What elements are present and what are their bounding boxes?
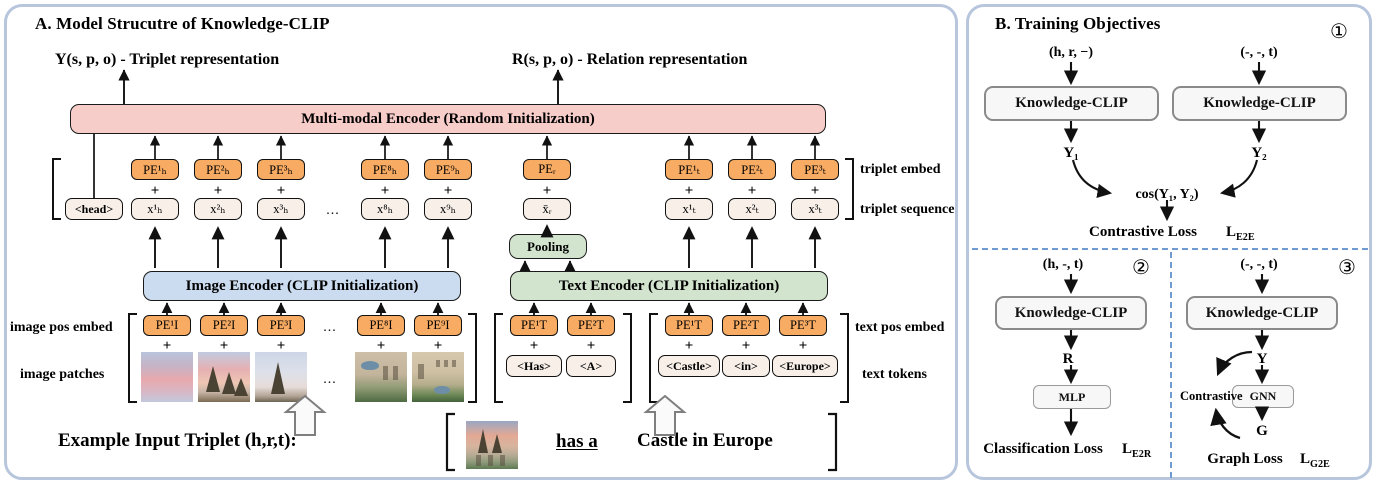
relation-representation-label: R(s, p, o) - Relation representation (512, 52, 747, 68)
bracket-left (52, 158, 61, 220)
ellipsis: ... (323, 320, 337, 336)
figure-root: A. Model Strucutre of Knowledge-CLIP Y(s… (0, 0, 1376, 484)
image-patch (255, 352, 307, 402)
objective-2-loss-symbol: LE2R (1122, 442, 1151, 457)
plus-sign: + (799, 338, 808, 355)
objective-1-input-0: (h, r, −) (1049, 46, 1093, 60)
objective-3-intermediate: Y (1257, 352, 1268, 367)
relation-token-0: <Has> (506, 355, 562, 377)
triplet-sequence-label: triplet sequence (860, 203, 954, 217)
example-input-label: Example Input Triplet (h,r,t): (58, 431, 297, 450)
text-pos-embed-label: text pos embed (855, 321, 944, 335)
triplet-embed-5: PEᵣ (523, 159, 571, 180)
panel-training-objectives (966, 4, 1372, 480)
text-pos-embed-tail-0: PE¹T (665, 315, 713, 336)
objective-2-number: ② (1132, 258, 1150, 278)
objective-1-number: ① (1330, 22, 1348, 42)
image-patch (141, 352, 193, 402)
triplet-embed-6: PE¹ₜ (665, 159, 713, 180)
bracket-left (128, 313, 137, 403)
image-pos-embed-label: image pos embed (10, 321, 113, 335)
objective-2-loss-name: Classification Loss (983, 442, 1103, 457)
example-tail-text: Castle in Europe (637, 431, 773, 450)
text-pos-embed-tail-1: PE²T (722, 315, 770, 336)
triplet-seq-3: x⁸ₕ (361, 198, 409, 220)
knowledge-clip-box-1b[interactable]: Knowledge-CLIP (1172, 86, 1347, 121)
triplet-representation-label: Y(s, p, o) - Triplet representation (55, 52, 279, 68)
objective-1-output-0: Y₁ (1063, 146, 1078, 161)
triplet-seq-0: x¹ₕ (131, 198, 179, 220)
triplet-embed-8: PE³ₜ (791, 159, 839, 180)
triplet-embed-7: PE²ₜ (728, 159, 776, 180)
panel-model-structure (4, 4, 958, 480)
bracket-left (649, 313, 658, 403)
triplet-embed-label: triplet embed (860, 163, 940, 177)
text-tokens-label: text tokens (862, 368, 927, 382)
objective-1-loss-name: Contrastive Loss (1089, 225, 1197, 240)
example-relation-text: has a (556, 432, 598, 451)
triplet-embed-4: PE⁹ₕ (424, 159, 472, 180)
panel-a-title: A. Model Strucutre of Knowledge-CLIP (35, 14, 330, 34)
image-patch (355, 352, 407, 402)
objective-1-operation: cos(Y₁, Y₂) (1135, 188, 1198, 202)
plus-sign: + (530, 338, 539, 355)
triplet-seq-8: x³ₜ (791, 198, 839, 220)
mlp-box[interactable]: MLP (1033, 385, 1111, 409)
objective-2-intermediate: R (1063, 352, 1074, 367)
triplet-seq-7: x²ₜ (728, 198, 776, 220)
ellipsis: ... (326, 203, 340, 219)
image-pos-embed-1: PE²I (200, 315, 248, 336)
knowledge-clip-box-3[interactable]: Knowledge-CLIP (1186, 296, 1338, 330)
ellipsis: ... (323, 372, 337, 388)
text-pos-embed-tail-2: PE³T (779, 315, 827, 336)
objective-3-loss-name: Graph Loss (1207, 452, 1282, 467)
relation-token-1: <A> (566, 355, 616, 377)
image-patch (412, 352, 464, 402)
triplet-embed-3: PE⁸ₕ (361, 159, 409, 180)
divider-horizontal (972, 248, 1368, 250)
plus-sign: + (587, 338, 596, 355)
knowledge-clip-box-1a[interactable]: Knowledge-CLIP (984, 86, 1159, 121)
triplet-seq-4: x⁹ₕ (424, 198, 472, 220)
bracket-right (623, 313, 632, 403)
text-encoder[interactable]: Text Encoder (CLIP Initialization) (510, 271, 828, 301)
triplet-seq-5: x̄ᵣ (523, 198, 571, 220)
objective-3-input: (-, -, t) (1240, 258, 1277, 272)
image-encoder[interactable]: Image Encoder (CLIP Initialization) (143, 271, 461, 301)
objective-3-loss-symbol: LG2E (1300, 452, 1330, 467)
image-pos-embed-3: PE⁸I (357, 315, 405, 336)
objective-3-number: ③ (1338, 258, 1356, 278)
panel-b-title: B. Training Objectives (995, 14, 1160, 34)
image-patches-label: image patches (20, 368, 104, 382)
objective-1-output-1: Y₂ (1251, 146, 1266, 161)
tail-token-0: <Castle> (658, 355, 720, 377)
objective-3-contrastive-label: Contrastive (1180, 390, 1243, 403)
tail-token-1: <in> (722, 355, 770, 377)
objective-1-loss-symbol: LE2E (1226, 225, 1255, 240)
text-pos-embed-rel-0: PE¹T (510, 315, 558, 336)
example-head-image (466, 421, 518, 469)
objective-1-input-1: (-, -, t) (1240, 46, 1277, 60)
text-pos-embed-rel-1: PE²T (567, 315, 615, 336)
plus-sign: + (685, 338, 694, 355)
multi-modal-encoder[interactable]: Multi-modal Encoder (Random Initializati… (70, 104, 826, 134)
triplet-seq-6: x¹ₜ (665, 198, 713, 220)
image-pos-embed-0: PE¹I (143, 315, 191, 336)
head-token: <head> (65, 198, 123, 220)
triplet-seq-1: x²ₕ (194, 198, 242, 220)
plus-sign: + (742, 338, 751, 355)
bracket-right (845, 158, 854, 220)
triplet-embed-1: PE²ₕ (194, 159, 242, 180)
bracket-left (494, 313, 503, 403)
pooling-box[interactable]: Pooling (509, 234, 587, 259)
triplet-seq-2: x³ₕ (257, 198, 305, 220)
image-patch (198, 352, 250, 402)
image-pos-embed-2: PE³I (257, 315, 305, 336)
bracket-right (840, 313, 849, 403)
objective-3-graph-output: G (1256, 424, 1268, 439)
tail-token-2: <Europe> (772, 355, 838, 377)
knowledge-clip-box-2[interactable]: Knowledge-CLIP (995, 296, 1147, 330)
bracket-right (468, 313, 477, 403)
triplet-embed-0: PE¹ₕ (131, 159, 179, 180)
objective-2-input: (h, -, t) (1043, 258, 1083, 272)
image-pos-embed-4: PE⁹I (414, 315, 462, 336)
divider-vertical (1170, 252, 1172, 478)
triplet-embed-2: PE³ₕ (257, 159, 305, 180)
